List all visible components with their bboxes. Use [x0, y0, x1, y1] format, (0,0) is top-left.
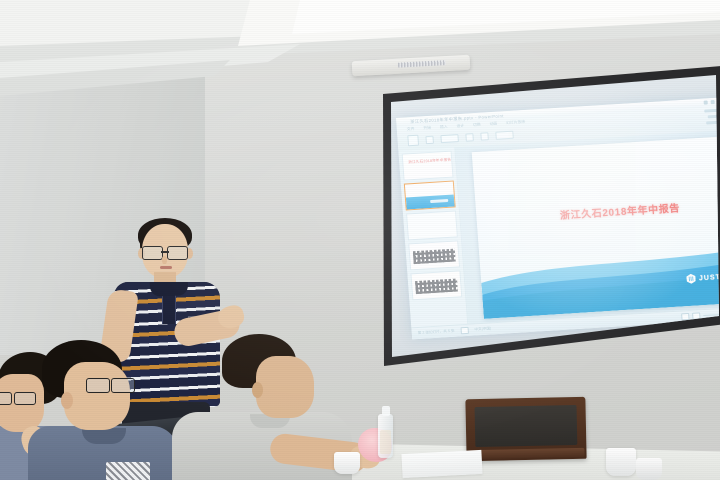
ribbon-tab[interactable]: 开始: [423, 126, 431, 131]
ribbon-tab[interactable]: 文件: [407, 127, 415, 132]
thumbnail-title: 浙江久石2018年年中报告: [408, 158, 451, 166]
logo-text: JUSTONE: [699, 272, 720, 281]
slide-thumbnail[interactable]: [410, 270, 462, 300]
slide-editing-canvas[interactable]: 浙江久石2018年年中报告: [455, 130, 720, 324]
water-bottle: [378, 414, 393, 458]
ppt-workspace: 浙江久石2018年年中报告: [398, 130, 720, 327]
wooden-chair: [465, 397, 586, 461]
ribbon-tab[interactable]: 切换: [473, 123, 481, 128]
presentation-room-photo: 浙江久石2018年年中报告.pptx - PowerPoint 文件 开始 插入…: [0, 0, 720, 480]
glasses-lens-right: [167, 246, 188, 260]
find-icon[interactable]: [704, 109, 718, 113]
coffee-cup-right-b: [636, 458, 662, 480]
audience-b-face: [64, 362, 130, 430]
paper-sheet: [401, 450, 482, 478]
audience-a-glasses: [0, 392, 36, 404]
ribbon-tab[interactable]: 动画: [490, 122, 498, 127]
audience-b-collar: [82, 428, 126, 444]
screen-surface: 浙江久石2018年年中报告.pptx - PowerPoint 文件 开始 插入…: [378, 66, 720, 366]
projection-screen: 浙江久石2018年年中报告.pptx - PowerPoint 文件 开始 插入…: [378, 66, 720, 366]
ribbon-tab[interactable]: 设计: [456, 124, 464, 129]
glasses-lens-left: [0, 392, 12, 405]
slide-counter: 第 2 张幻灯片，共 5 张: [418, 329, 455, 336]
slide-thumbnail-selected[interactable]: [404, 180, 456, 210]
thumbnail-text-block: [413, 249, 456, 265]
coffee-cup-right-a: [606, 448, 636, 476]
font-name-box[interactable]: [440, 134, 459, 143]
audience-b-papers: [106, 462, 150, 480]
audience-b-ear: [61, 392, 73, 409]
glasses-bridge: [161, 251, 169, 253]
powerpoint-window: 浙江久石2018年年中报告.pptx - PowerPoint 文件 开始 插入…: [396, 97, 720, 339]
zoom-slider[interactable]: [703, 313, 720, 316]
audience-b-glasses: [86, 378, 134, 392]
thumbnail-text-block: [415, 278, 458, 294]
audience-center: [178, 334, 358, 480]
chair-upholstery: [475, 405, 578, 447]
ribbon-tab[interactable]: 插入: [440, 125, 448, 130]
glasses-lens-left: [86, 378, 110, 393]
glasses-lens-left: [142, 246, 163, 260]
polo-collar: [150, 282, 189, 297]
shapes-gallery[interactable]: [495, 130, 514, 139]
slide-thumbnail[interactable]: 浙江久石2018年年中报告: [402, 151, 454, 181]
hexagon-logo-icon: [687, 273, 697, 284]
presenter-mouth: [160, 266, 172, 269]
audience-c-ear: [252, 382, 263, 398]
audience-c-face: [256, 356, 314, 418]
glasses-lens-right: [111, 378, 135, 393]
presenter-nose: [162, 256, 167, 264]
language-icon[interactable]: [460, 327, 468, 334]
current-slide[interactable]: 浙江久石2018年年中报告: [472, 134, 720, 319]
slide-wave-graphic: [480, 243, 720, 319]
slide-title-text: 浙江久石2018年年中报告: [476, 194, 720, 227]
slide-thumbnail[interactable]: [408, 240, 460, 270]
language-label: 中文(中国): [474, 326, 491, 332]
coffee-cup-left: [334, 452, 360, 474]
paste-icon[interactable]: [407, 135, 419, 147]
thumbnail-band: [406, 195, 455, 210]
normal-view-icon[interactable]: [681, 313, 689, 320]
new-slide-icon[interactable]: [425, 135, 434, 143]
italic-icon[interactable]: [480, 132, 489, 140]
glasses-lens-right: [14, 392, 36, 405]
audience-left-center: [34, 340, 164, 480]
slide-thumbnail[interactable]: [406, 210, 458, 240]
bold-icon[interactable]: [465, 133, 474, 141]
ribbon-tab[interactable]: 幻灯片放映: [506, 120, 525, 126]
